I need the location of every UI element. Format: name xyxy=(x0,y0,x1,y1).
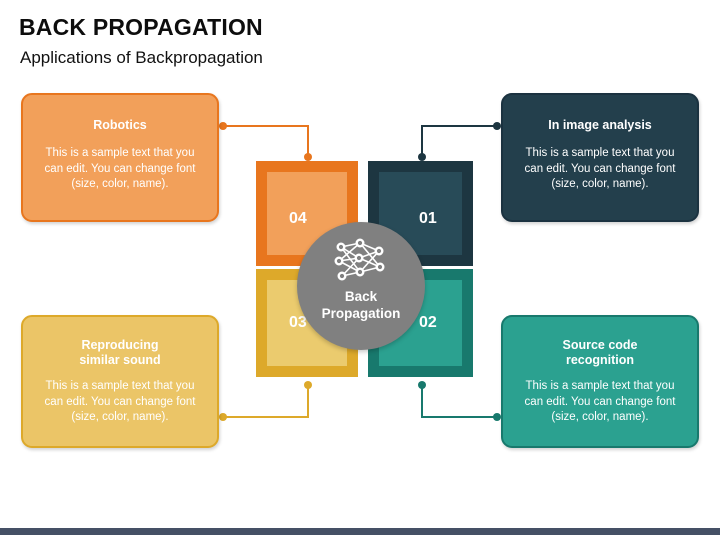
card-title: Reproducing similar sound xyxy=(37,338,203,368)
connector-segment-vertical xyxy=(421,385,423,418)
connector-dot-card-sound xyxy=(219,413,227,421)
center-hub-label: Back Propagation xyxy=(297,288,425,322)
card-body: This is a sample text that you can edit.… xyxy=(37,379,203,426)
card-title-line2: similar sound xyxy=(37,353,203,368)
card-body: This is a sample text that you can edit.… xyxy=(517,146,683,193)
center-hub-label-line2: Propagation xyxy=(297,305,425,322)
square-number-label: 04 xyxy=(289,210,307,228)
card-robotics[interactable]: Robotics This is a sample text that you … xyxy=(21,93,219,222)
connector-segment-horizontal xyxy=(421,416,497,418)
connector-dot-square-04 xyxy=(304,153,312,161)
page-title: BACK PROPAGATION xyxy=(19,14,263,41)
footer-bar xyxy=(0,528,720,535)
center-hub[interactable]: Back Propagation xyxy=(297,222,425,350)
connector-segment-horizontal xyxy=(421,125,497,127)
card-body: This is a sample text that you can edit.… xyxy=(37,146,203,193)
neural-network-icon xyxy=(333,238,389,284)
connector-segment-vertical xyxy=(307,385,309,418)
card-title: Source code recognition xyxy=(517,338,683,368)
card-title-line1: Reproducing xyxy=(37,338,203,353)
slide-canvas: BACK PROPAGATION Applications of Backpro… xyxy=(0,0,720,540)
square-number-label: 01 xyxy=(419,210,437,228)
page-subtitle: Applications of Backpropagation xyxy=(20,48,263,68)
connector-dot-card-source-code xyxy=(493,413,501,421)
connector-segment-horizontal xyxy=(223,125,309,127)
card-title: Robotics xyxy=(37,118,203,133)
card-title-line2: recognition xyxy=(517,353,683,368)
card-title-line1: Source code xyxy=(517,338,683,353)
card-sound[interactable]: Reproducing similar sound This is a samp… xyxy=(21,315,219,448)
connector-dot-square-01 xyxy=(418,153,426,161)
card-source-code[interactable]: Source code recognition This is a sample… xyxy=(501,315,699,448)
center-hub-label-line1: Back xyxy=(297,288,425,305)
card-body: This is a sample text that you can edit.… xyxy=(517,379,683,426)
card-title: In image analysis xyxy=(517,118,683,133)
card-image-analysis[interactable]: In image analysis This is a sample text … xyxy=(501,93,699,222)
connector-segment-horizontal xyxy=(223,416,309,418)
